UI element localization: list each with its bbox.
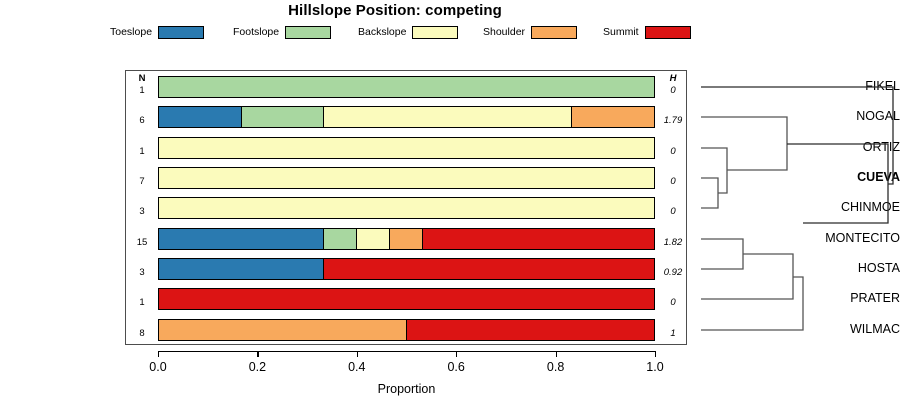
x-tick-label: 0.8 xyxy=(531,360,581,374)
h-value-cueva: 0 xyxy=(658,176,688,187)
legend-swatch-summit xyxy=(645,26,691,39)
bar-segment-summit[interactable] xyxy=(159,289,654,309)
n-value-hosta: 3 xyxy=(129,267,155,278)
h-value-fikel: 0 xyxy=(658,85,688,96)
bar-segment-footslope[interactable] xyxy=(159,77,654,97)
stacked-bar-cueva[interactable] xyxy=(158,167,655,189)
stacked-bar-hosta[interactable] xyxy=(158,258,655,280)
h-value-montecito: 1.82 xyxy=(658,237,688,248)
bar-segment-summit[interactable] xyxy=(324,259,654,279)
stacked-bar-fikel[interactable] xyxy=(158,76,655,98)
h-value-prater: 0 xyxy=(658,297,688,308)
legend-item-footslope: Footslope xyxy=(233,24,331,40)
x-tick-label: 0.6 xyxy=(431,360,481,374)
bar-segment-toeslope[interactable] xyxy=(159,107,242,127)
x-tick xyxy=(456,351,457,357)
bar-segment-backslope[interactable] xyxy=(357,229,390,249)
column-header-n: N xyxy=(129,73,155,84)
stacked-bar-ortiz[interactable] xyxy=(158,137,655,159)
legend-item-shoulder: Shoulder xyxy=(483,24,577,40)
x-axis-line xyxy=(158,351,655,352)
bar-segment-summit[interactable] xyxy=(407,320,655,340)
n-value-nogal: 6 xyxy=(129,115,155,126)
h-value-wilmac: 1 xyxy=(658,328,688,339)
x-tick xyxy=(257,351,258,357)
legend-swatch-shoulder xyxy=(531,26,577,39)
x-tick-label: 0.4 xyxy=(332,360,382,374)
h-value-ortiz: 0 xyxy=(658,146,688,157)
bar-segment-backslope[interactable] xyxy=(159,198,654,218)
bar-segment-footslope[interactable] xyxy=(324,229,357,249)
bar-segment-shoulder[interactable] xyxy=(572,107,654,127)
legend-swatch-footslope xyxy=(285,26,331,39)
legend: Toeslope Footslope Backslope Shoulder Su… xyxy=(110,24,790,40)
n-value-fikel: 1 xyxy=(129,85,155,96)
bar-segment-summit[interactable] xyxy=(423,229,654,249)
legend-label: Toeslope xyxy=(110,26,152,38)
bar-segment-backslope[interactable] xyxy=(159,138,654,158)
x-tick xyxy=(556,351,557,357)
legend-label: Summit xyxy=(603,26,639,38)
n-value-ortiz: 1 xyxy=(129,146,155,157)
legend-label: Footslope xyxy=(233,26,279,38)
bar-segment-shoulder[interactable] xyxy=(390,229,423,249)
column-header-h: H xyxy=(658,73,688,84)
bar-segment-footslope[interactable] xyxy=(242,107,325,127)
bar-segment-toeslope[interactable] xyxy=(159,229,324,249)
chart-title: Hillslope Position: competing xyxy=(0,2,790,19)
legend-item-toeslope: Toeslope xyxy=(110,24,204,40)
stacked-bar-montecito[interactable] xyxy=(158,228,655,250)
x-tick xyxy=(655,351,656,357)
stacked-bar-wilmac[interactable] xyxy=(158,319,655,341)
dendrogram xyxy=(690,60,900,360)
h-value-chinmoe: 0 xyxy=(658,206,688,217)
legend-item-backslope: Backslope xyxy=(358,24,458,40)
n-value-chinmoe: 3 xyxy=(129,206,155,217)
n-value-wilmac: 8 xyxy=(129,328,155,339)
bar-segment-backslope[interactable] xyxy=(159,168,654,188)
chart-root: Hillslope Position: competing Toeslope F… xyxy=(0,0,900,420)
legend-swatch-toeslope xyxy=(158,26,204,39)
h-value-hosta: 0.92 xyxy=(658,267,688,278)
legend-swatch-backslope xyxy=(412,26,458,39)
stacked-bar-prater[interactable] xyxy=(158,288,655,310)
x-tick xyxy=(158,351,159,357)
bar-segment-shoulder[interactable] xyxy=(159,320,407,340)
n-value-prater: 1 xyxy=(129,297,155,308)
stacked-bar-chinmoe[interactable] xyxy=(158,197,655,219)
x-tick-label: 0.2 xyxy=(232,360,282,374)
legend-label: Backslope xyxy=(358,26,406,38)
n-value-montecito: 15 xyxy=(129,237,155,248)
h-value-nogal: 1.79 xyxy=(658,115,688,126)
stacked-bar-nogal[interactable] xyxy=(158,106,655,128)
legend-label: Shoulder xyxy=(483,26,525,38)
legend-item-summit: Summit xyxy=(603,24,691,40)
x-tick-label: 0.0 xyxy=(133,360,183,374)
bar-segment-toeslope[interactable] xyxy=(159,259,324,279)
x-tick-label: 1.0 xyxy=(630,360,680,374)
x-axis-label: Proportion xyxy=(158,382,655,396)
bar-segment-backslope[interactable] xyxy=(324,107,572,127)
x-tick xyxy=(357,351,358,357)
n-value-cueva: 7 xyxy=(129,176,155,187)
